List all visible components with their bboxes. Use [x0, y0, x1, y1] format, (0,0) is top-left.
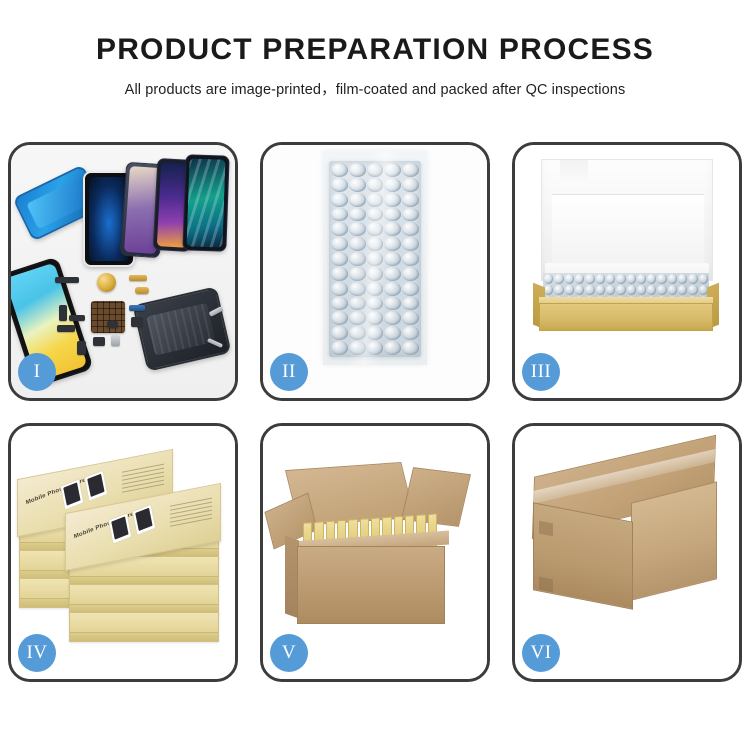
battery-part-icon: [77, 341, 86, 355]
process-step-3: III: [512, 142, 742, 401]
connector-part-icon: [57, 325, 75, 332]
screw-grid-icon: [91, 301, 125, 333]
process-step-1: I: [8, 142, 238, 401]
box-phone-graphic: [84, 470, 109, 502]
gold-connector-part-icon: [129, 275, 147, 281]
process-step-6: VI: [512, 423, 742, 682]
carton-seam-upper: [539, 521, 553, 537]
page-title: PRODUCT PREPARATION PROCESS: [0, 34, 750, 66]
speaker-coil-icon: [97, 273, 116, 292]
step-badge-2: II: [270, 353, 308, 391]
button-flex-part-icon: [59, 305, 67, 321]
speaker-part-icon: [93, 337, 105, 346]
flex-cable-part-icon: [55, 277, 79, 283]
small-flex-part-icon: [69, 315, 85, 321]
camera-module-icon: [131, 317, 143, 327]
step-badge-1: I: [18, 353, 56, 391]
gold-bracket-part-icon: [135, 287, 149, 294]
box-spec-lines: [122, 464, 164, 496]
step-badge-4: IV: [18, 634, 56, 672]
vibrator-part-icon: [111, 335, 120, 346]
open-carton-icon: [297, 546, 445, 624]
box-stack: Mobile Phone Spare Parts Mobile Phone Sp…: [13, 436, 229, 636]
process-step-grid: I: [8, 142, 742, 682]
step-badge-3: III: [522, 353, 560, 391]
phone-backplate-icon: [132, 286, 231, 372]
process-step-4: Mobile Phone Spare Parts Mobile Phone Sp…: [8, 423, 238, 682]
process-step-5: V: [260, 423, 490, 682]
box-phone-graphic: [132, 504, 157, 536]
sealed-carton-right-face: [631, 481, 717, 600]
process-step-2: II: [260, 142, 490, 401]
step-badge-5: V: [270, 634, 308, 672]
sim-tray-part-icon: [107, 321, 118, 328]
bubble-wrap-icon: [329, 161, 421, 357]
sealed-carton-front-face: [533, 502, 633, 609]
carton-seam-lower: [539, 577, 553, 593]
product-preparation-infographic: PRODUCT PREPARATION PROCESS All products…: [0, 0, 750, 750]
kraft-box-front-icon: [539, 303, 713, 331]
stacked-box-body: [69, 612, 219, 642]
page-subtitle: All products are image-printed，film-coat…: [0, 78, 750, 99]
teal-phone-icon: [182, 154, 229, 251]
header: PRODUCT PREPARATION PROCESS All products…: [0, 0, 750, 99]
box-spec-lines: [170, 498, 212, 530]
step-badge-6: VI: [522, 634, 560, 672]
blue-chip-part-icon: [129, 305, 145, 311]
stacked-box-body: [69, 584, 219, 614]
